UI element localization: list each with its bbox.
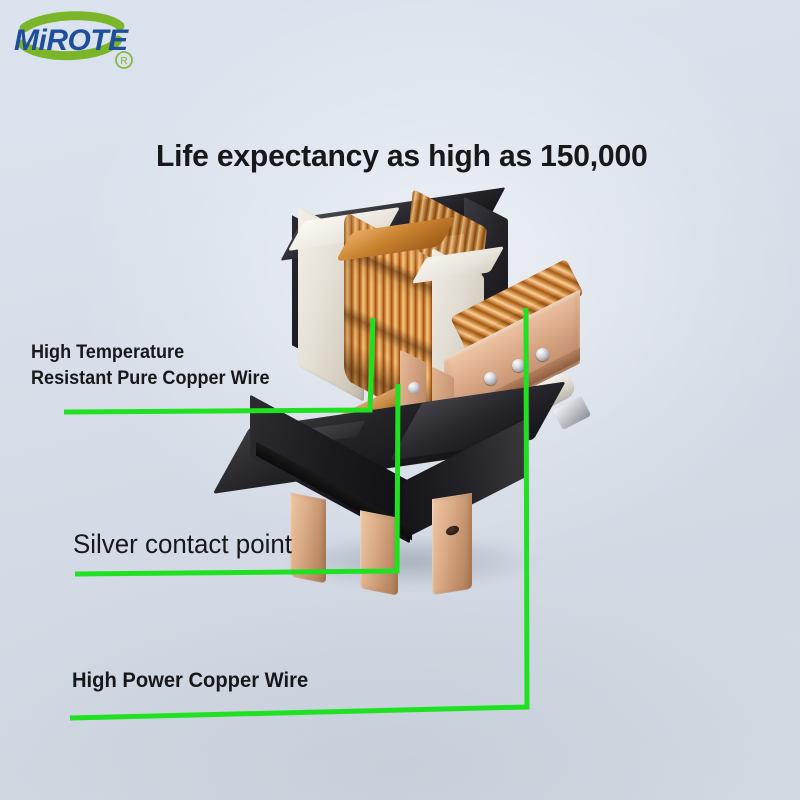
svg-text:R: R [120,56,127,67]
copper-spade-terminal [360,510,398,595]
callout-line-1: High Temperature [31,340,270,366]
page-title: Life expectancy as high as 150,000 [156,137,648,175]
callout-high-temperature-copper-wire: High Temperature Resistant Pure Copper W… [31,340,270,392]
copper-spade-terminal [290,493,326,584]
product-image-canvas: MiROTE R Life expectancy as high as 150,… [0,0,800,800]
copper-spade-terminal [432,493,472,595]
callout-high-power-copper-wire: High Power Copper Wire [72,667,308,695]
terminal-screw [408,382,420,394]
callout-silver-contact-point: Silver contact point [73,527,292,561]
plate-rivet [484,372,497,385]
brand-logo: MiROTE R [6,10,176,72]
plate-rivet [536,348,549,361]
logo-wordmark: MiROTE [14,24,129,57]
callout-line-2: Resistant Pure Copper Wire [31,366,270,392]
plate-rivet [512,359,525,372]
